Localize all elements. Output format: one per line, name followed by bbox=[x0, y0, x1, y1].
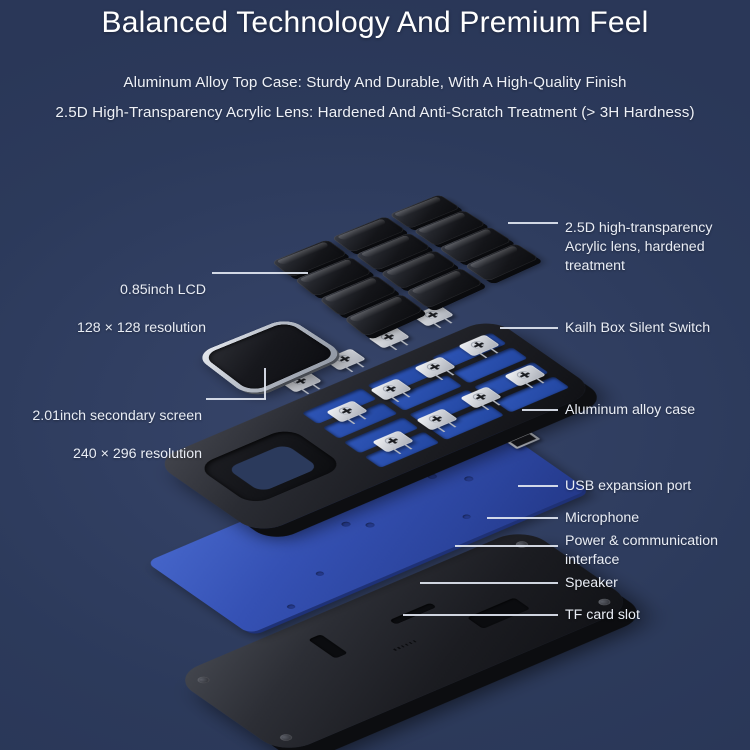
callout-secondary-screen: 2.01inch secondary screen 240 × 296 reso… bbox=[6, 388, 202, 483]
leader-line-acrylic-lens bbox=[508, 222, 558, 224]
callout-speaker: Speaker bbox=[565, 574, 745, 593]
callout-tf-card: TF card slot bbox=[565, 606, 745, 625]
leader-line-aluminum-case bbox=[522, 409, 558, 411]
callout-lcd: 0.85inch LCD 128 × 128 resolution bbox=[20, 262, 206, 357]
infographic-canvas: Balanced Technology And Premium Feel Alu… bbox=[0, 0, 750, 750]
leader-line-power-interface bbox=[455, 545, 558, 547]
leader-line-microphone bbox=[487, 517, 558, 519]
device-layer-secondary-screen bbox=[196, 300, 356, 410]
leader-line-speaker bbox=[420, 582, 558, 584]
callout-aluminum-case: Aluminum alloy case bbox=[565, 401, 745, 420]
leader-line-tf-card bbox=[403, 614, 558, 616]
subtitle-line-2: 2.5D High-Transparency Acrylic Lens: Har… bbox=[0, 104, 750, 121]
device-layer-bottom-case bbox=[140, 540, 700, 750]
callout-lcd-line-1: 0.85inch LCD bbox=[20, 281, 206, 300]
device-layer-keycaps bbox=[268, 170, 568, 340]
usb-connector bbox=[504, 430, 541, 449]
leader-line-switch bbox=[500, 327, 558, 329]
callout-switch: Kailh Box Silent Switch bbox=[565, 319, 745, 338]
leader-line-secondary-screen-vertical bbox=[264, 368, 266, 399]
leader-line-lcd bbox=[212, 272, 308, 274]
subtitle-line-1: Aluminum Alloy Top Case: Sturdy And Dura… bbox=[0, 74, 750, 91]
leader-line-secondary-screen bbox=[206, 398, 266, 400]
callout-secondary-screen-line-2: 240 × 296 resolution bbox=[6, 445, 202, 464]
leader-line-usb-port bbox=[518, 485, 558, 487]
callout-usb-port: USB expansion port bbox=[565, 477, 745, 496]
device-layer-switches bbox=[270, 295, 570, 455]
callout-lcd-line-2: 128 × 128 resolution bbox=[20, 319, 206, 338]
callout-acrylic-lens: 2.5D high-transparency Acrylic lens, har… bbox=[565, 219, 745, 276]
callout-secondary-screen-line-1: 2.01inch secondary screen bbox=[6, 407, 202, 426]
page-title: Balanced Technology And Premium Feel bbox=[0, 6, 750, 40]
callout-power-interface: Power & communication interface bbox=[565, 532, 750, 570]
callout-microphone: Microphone bbox=[565, 509, 745, 528]
